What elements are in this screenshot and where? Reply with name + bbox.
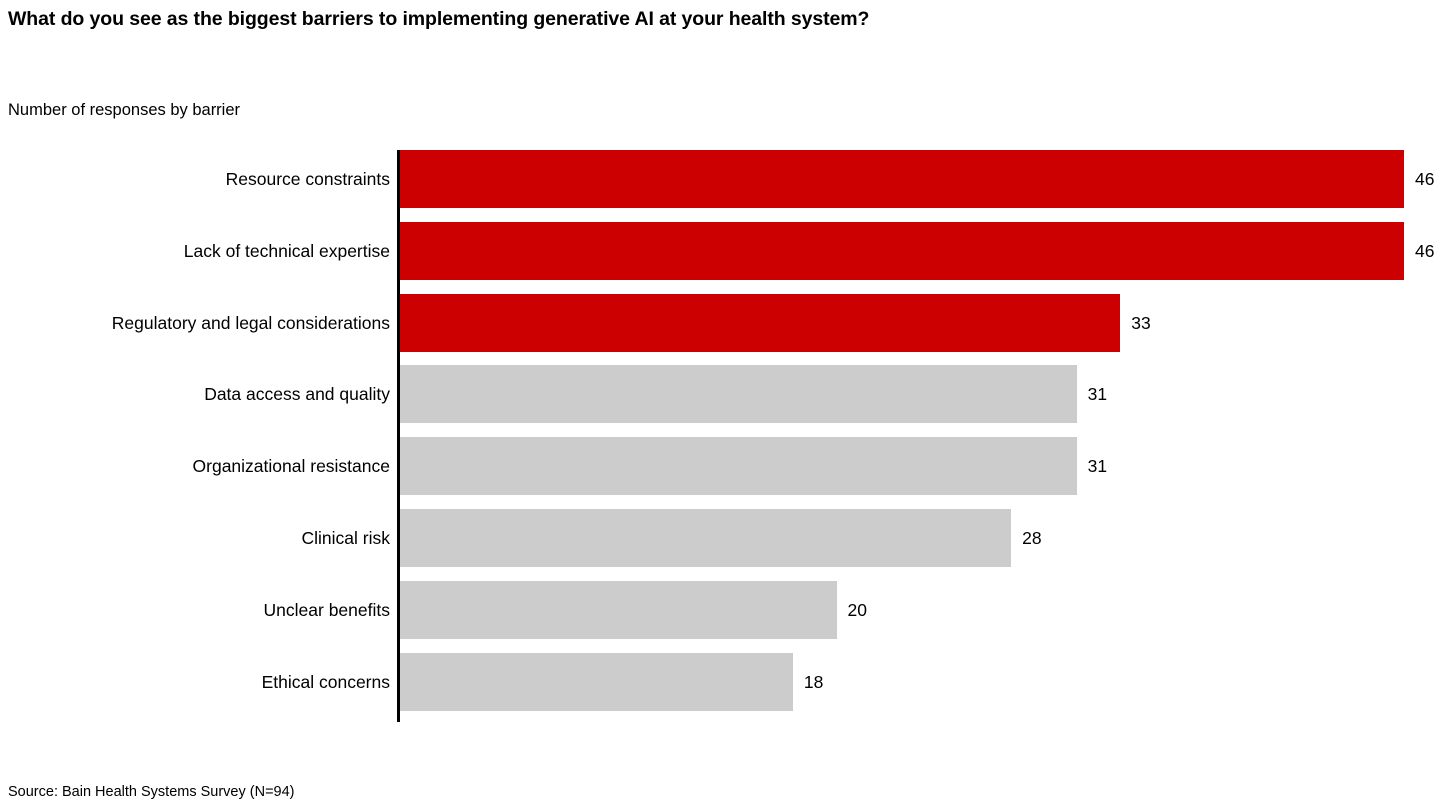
bar-track: 46 xyxy=(400,222,1440,280)
bar-track: 31 xyxy=(400,437,1440,495)
bar-track: 28 xyxy=(400,509,1440,567)
bar-rect[interactable] xyxy=(400,509,1011,567)
plot-area: Resource constraints46Lack of technical … xyxy=(0,146,1440,730)
bar-track: 18 xyxy=(400,653,1440,711)
bar-category-label: Regulatory and legal considerations xyxy=(112,294,390,352)
bar-row: Resource constraints46 xyxy=(0,150,1440,208)
bar-category-label: Unclear benefits xyxy=(264,581,390,639)
bar-category-label: Ethical concerns xyxy=(262,653,390,711)
bar-row: Unclear benefits20 xyxy=(0,581,1440,639)
bar-rect[interactable] xyxy=(400,437,1077,495)
bar-value-label: 46 xyxy=(1415,222,1434,280)
bar-category-label: Organizational resistance xyxy=(193,437,390,495)
bar-track: 20 xyxy=(400,581,1440,639)
bar-rect[interactable] xyxy=(400,653,793,711)
bar-value-label: 20 xyxy=(848,581,867,639)
bar-track: 46 xyxy=(400,150,1440,208)
bar-value-label: 31 xyxy=(1088,437,1107,495)
bar-category-label: Resource constraints xyxy=(226,150,390,208)
bar-row: Lack of technical expertise46 xyxy=(0,222,1440,280)
bar-value-label: 18 xyxy=(804,653,823,711)
bar-value-label: 31 xyxy=(1088,365,1107,423)
bar-value-label: 33 xyxy=(1131,294,1150,352)
bar-rect[interactable] xyxy=(400,294,1120,352)
bar-rect[interactable] xyxy=(400,581,837,639)
bar-row: Ethical concerns18 xyxy=(0,653,1440,711)
bar-value-label: 46 xyxy=(1415,150,1434,208)
bar-value-label: 28 xyxy=(1022,509,1041,567)
bar-category-label: Lack of technical expertise xyxy=(184,222,390,280)
bar-rect[interactable] xyxy=(400,222,1404,280)
bar-track: 31 xyxy=(400,365,1440,423)
bar-rect[interactable] xyxy=(400,150,1404,208)
page-title: What do you see as the biggest barriers … xyxy=(8,6,1428,32)
bar-category-label: Clinical risk xyxy=(302,509,390,567)
bar-category-label: Data access and quality xyxy=(204,365,390,423)
bar-rect[interactable] xyxy=(400,365,1077,423)
bar-row: Organizational resistance31 xyxy=(0,437,1440,495)
bar-row: Clinical risk28 xyxy=(0,509,1440,567)
bar-row: Data access and quality31 xyxy=(0,365,1440,423)
bar-row: Regulatory and legal considerations33 xyxy=(0,294,1440,352)
bar-track: 33 xyxy=(400,294,1440,352)
chart-page: What do you see as the biggest barriers … xyxy=(0,0,1440,810)
source-note: Source: Bain Health Systems Survey (N=94… xyxy=(8,782,295,802)
chart-subtitle: Number of responses by barrier xyxy=(8,99,240,121)
